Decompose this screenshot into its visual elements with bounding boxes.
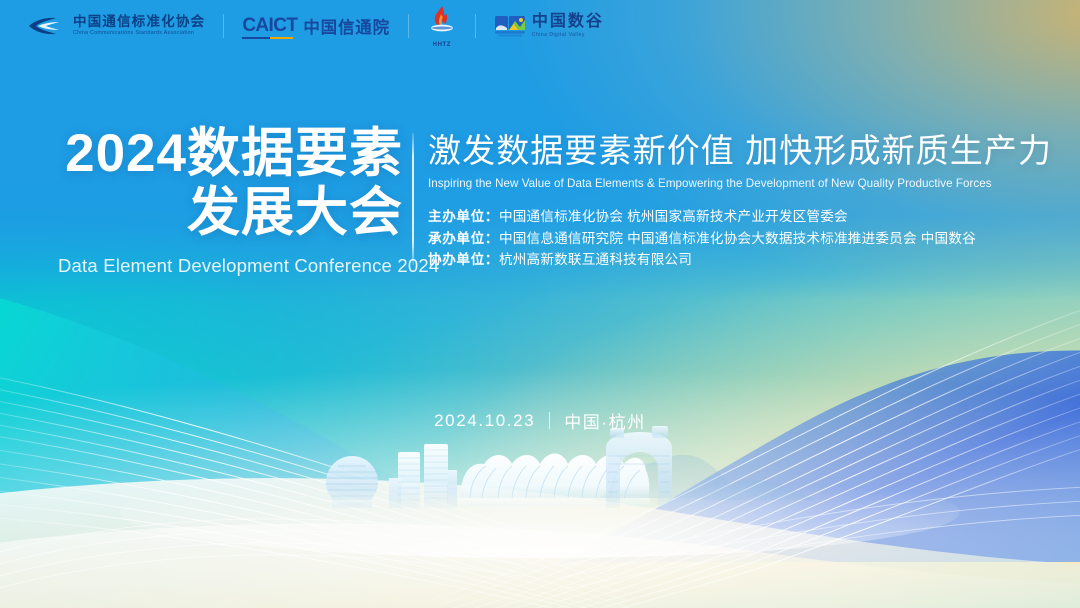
logo-china-digital-valley: 中国数谷 China Digital Valley xyxy=(494,14,604,38)
sphere-building xyxy=(326,456,378,508)
organizer-value-host: 中国通信标准化协会 杭州国家高新技术产业开发区管委会 xyxy=(499,209,848,224)
caict-underline-icon: CAICT xyxy=(242,15,297,37)
logo-divider xyxy=(475,14,476,38)
logo-divider xyxy=(408,14,409,38)
valley-name-cn: 中国数谷 xyxy=(532,14,604,30)
organizer-row-organizer: 承办单位：中国信息通信研究院 中国通信标准化协会大数据技术标准推进委员会 中国数… xyxy=(428,228,1052,249)
organizer-value-coorganizer: 杭州高新数联互通科技有限公司 xyxy=(499,252,692,267)
logo-hhtz: HHTZ xyxy=(427,4,457,48)
hangzhou-skyline-silhouette xyxy=(0,0,1080,608)
organizer-label-coorganizer: 协办单位： xyxy=(428,252,499,267)
organizer-row-coorganizer: 协办单位：杭州高新数联互通科技有限公司 xyxy=(428,249,1052,270)
caict-rule xyxy=(242,37,293,40)
twin-towers xyxy=(389,444,457,508)
conference-poster: 中国通信标准化协会 China Communications Standards… xyxy=(0,0,1080,608)
slogan-english: Inspiring the New Value of Data Elements… xyxy=(428,177,1052,190)
valley-name-en: China Digital Valley xyxy=(532,33,604,38)
ccsa-swoosh-icon xyxy=(26,13,66,39)
title-line-1: 2024数据要素 xyxy=(65,124,403,183)
organizer-label-host: 主办单位： xyxy=(428,209,499,224)
organizer-row-host: 主办单位：中国通信标准化协会 杭州国家高新技术产业开发区管委会 xyxy=(428,206,1052,227)
organizer-value-organizer: 中国信息通信研究院 中国通信标准化协会大数据技术标准推进委员会 中国数谷 xyxy=(499,231,976,246)
page-title: 2024数据要素 发展大会 xyxy=(58,124,403,243)
event-date: 2024.10.23 xyxy=(434,411,535,431)
date-location-separator xyxy=(549,412,550,429)
logo-divider xyxy=(223,14,224,38)
ccsa-name-cn: 中国通信标准化协会 xyxy=(73,15,205,29)
event-date-location: 2024.10.23 中国·杭州 xyxy=(0,408,1080,433)
hhtz-abbr: HHTZ xyxy=(433,42,451,48)
hhtz-flame-icon xyxy=(427,4,457,34)
ccsa-name-en: China Communications Standards Associati… xyxy=(73,31,205,36)
organizer-list: 主办单位：中国通信标准化协会 杭州国家高新技术产业开发区管委会 承办单位：中国信… xyxy=(428,206,1052,270)
caict-wordmark: CAICT xyxy=(242,15,297,36)
logo-ccsa: 中国通信标准化协会 China Communications Standards… xyxy=(26,13,205,39)
digital-valley-icon xyxy=(494,14,526,38)
slogan-and-organizers: 激发数据要素新价值 加快形成新质生产力 Inspiring the New Va… xyxy=(428,130,1052,271)
logo-caict: CAICT 中国信通院 xyxy=(242,14,390,38)
sponsor-logo-bar: 中国通信标准化协会 China Communications Standards… xyxy=(0,0,1080,52)
title-vertical-divider xyxy=(412,133,414,265)
slogan-chinese: 激发数据要素新价值 加快形成新质生产力 xyxy=(428,130,1052,171)
title-line-2: 发展大会 xyxy=(58,183,403,242)
conference-title-block: 2024数据要素 发展大会 Data Element Development C… xyxy=(58,124,403,277)
organizer-label-organizer: 承办单位： xyxy=(428,231,499,246)
event-location: 中国·杭州 xyxy=(564,408,646,433)
caict-name-cn: 中国信通院 xyxy=(303,14,390,38)
title-english: Data Element Development Conference 2024 xyxy=(58,255,403,277)
